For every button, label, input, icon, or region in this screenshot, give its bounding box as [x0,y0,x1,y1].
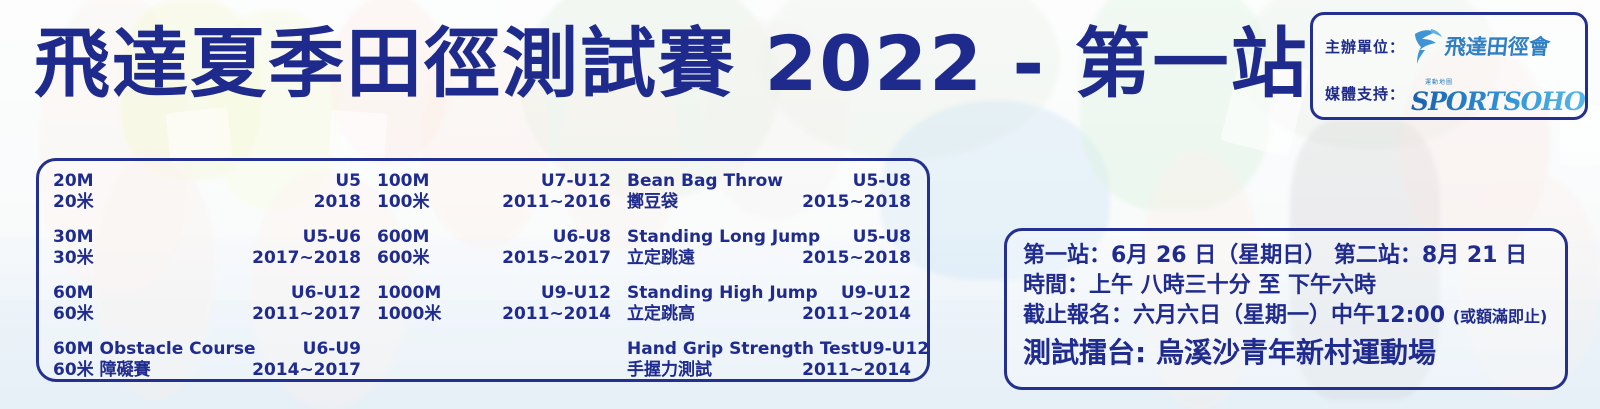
sponsor-box: 主辦單位： 飛達田徑會 媒體支持： 運動地圖 SPORTSOHO [1310,12,1588,120]
event-item: 30MU5-U6 30米2017~2018 [53,227,361,269]
event-age-group: U6-U12 [291,283,361,304]
organizer-row: 主辦單位： 飛達田徑會 [1325,23,1575,69]
event-name-zh: 60米 [53,304,94,325]
event-age-group: U5 [335,171,361,192]
events-box: 20MU5 20米2018 30MU5-U6 30米2017~2018 60MU… [36,158,930,382]
event-item: 1000MU9-U12 1000米2011~2014 [377,283,611,325]
event-age-group: U6-U9 [303,339,361,360]
event-name-en: 1000M [377,283,441,304]
event-name-en: 30M [53,227,94,248]
info-time: 時間：上午 八時三十分 至 下午六時 [1023,271,1551,301]
event-item: 600MU6-U8 600米2015~2017 [377,227,611,269]
media-row: 媒體支持： 運動地圖 SPORTSOHO [1325,69,1575,117]
event-name-zh: 立定跳高 [627,304,695,325]
event-birth-years: 2015~2017 [502,248,611,269]
media-name: SPORTSOHO [1411,87,1585,116]
info-dates: 第一站：6月 26 日（星期日） 第二站：8月 21 日 [1023,241,1551,271]
event-birth-years: 2011~2014 [802,360,911,381]
event-name-zh: 600米 [377,248,430,269]
media-tagline: 運動地圖 [1425,79,1453,86]
event-name-zh: 手握力測試 [627,360,712,381]
event-name-en: Standing Long Jump [627,227,820,248]
event-birth-years: 2015~2018 [802,248,911,269]
event-birth-years: 2017~2018 [252,248,361,269]
page-title: 飛達夏季田徑測試賽 2022 - 第一站 [34,26,1308,102]
media-label: 媒體支持： [1325,83,1405,104]
event-birth-years: 2018 [314,192,361,213]
event-name-en: Standing High Jump [627,283,818,304]
event-age-group: U9-U12 [841,283,911,304]
info-deadline: 截止報名：六月六日（星期一）中午12:00 (或額滿即止) [1023,301,1551,332]
event-age-group: U5-U6 [303,227,361,248]
event-name-en: 600M [377,227,429,248]
event-name-en: 100M [377,171,429,192]
event-item: 60MU6-U12 60米2011~2017 [53,283,361,325]
event-name-en: 60M [53,283,94,304]
event-name-zh: 擲豆袋 [627,192,678,213]
event-age-group: U9-U12 [859,339,929,360]
event-item: Bean Bag ThrowU5-U8 擲豆袋2015~2018 [627,171,911,213]
event-item: 100MU7-U12 100米2011~2016 [377,171,611,213]
event-age-group: U5-U8 [853,171,911,192]
event-name-zh: 30米 [53,248,94,269]
event-name-zh: 100米 [377,192,430,213]
event-age-group: U7-U12 [541,171,611,192]
organizer-label: 主辦單位： [1325,36,1405,57]
events-column-2: 100MU7-U12 100米2011~2016 600MU6-U8 600米2… [369,171,619,369]
event-name-zh: 60米 障礙賽 [53,360,151,381]
event-item: Standing High JumpU9-U12 立定跳高2011~2014 [627,283,911,325]
organizer-logo: 飛達田徑會 [1409,27,1550,65]
info-venue: 測試擂台: 烏溪沙青年新村運動場 [1023,334,1551,372]
event-item: 20MU5 20米2018 [53,171,361,213]
event-birth-years: 2015~2018 [802,192,911,213]
events-column-1: 20MU5 20米2018 30MU5-U6 30米2017~2018 60MU… [39,171,369,369]
event-name-zh: 立定跳遠 [627,248,695,269]
event-age-group: U5-U8 [853,227,911,248]
event-birth-years: 2011~2014 [502,304,611,325]
event-name-zh: 1000米 [377,304,441,325]
event-name-en: 20M [53,171,94,192]
event-item: Hand Grip Strength TestU9-U12 手握力測試2011~… [627,339,911,381]
event-birth-years: 2011~2017 [252,304,361,325]
event-name-en: 60M Obstacle Course [53,339,255,360]
event-age-group: U6-U8 [553,227,611,248]
info-box: 第一站：6月 26 日（星期日） 第二站：8月 21 日 時間：上午 八時三十分… [1004,228,1568,390]
event-name-en: Hand Grip Strength Test [627,339,859,360]
organizer-name: 飛達田徑會 [1443,31,1551,61]
event-birth-years: 2011~2016 [502,192,611,213]
event-name-zh: 20米 [53,192,94,213]
media-logo: 運動地圖 SPORTSOHO [1411,71,1585,115]
event-birth-years: 2011~2014 [802,304,911,325]
running-man-brush-logo-icon [1409,27,1443,65]
info-deadline-note: (或額滿即止) [1453,307,1548,326]
event-item: 60M Obstacle CourseU6-U9 60米 障礙賽2014~201… [53,339,361,381]
info-deadline-main: 截止報名：六月六日（星期一）中午12:00 [1023,303,1453,328]
event-birth-years: 2014~2017 [252,360,361,381]
event-item: Standing Long JumpU5-U8 立定跳遠2015~2018 [627,227,911,269]
event-banner: 飛達夏季田徑測試賽 2022 - 第一站 主辦單位： 飛達田徑會 媒體支持： 運… [0,0,1600,409]
event-age-group: U9-U12 [541,283,611,304]
events-column-3: Bean Bag ThrowU5-U8 擲豆袋2015~2018 Standin… [619,171,919,369]
event-name-en: Bean Bag Throw [627,171,783,192]
